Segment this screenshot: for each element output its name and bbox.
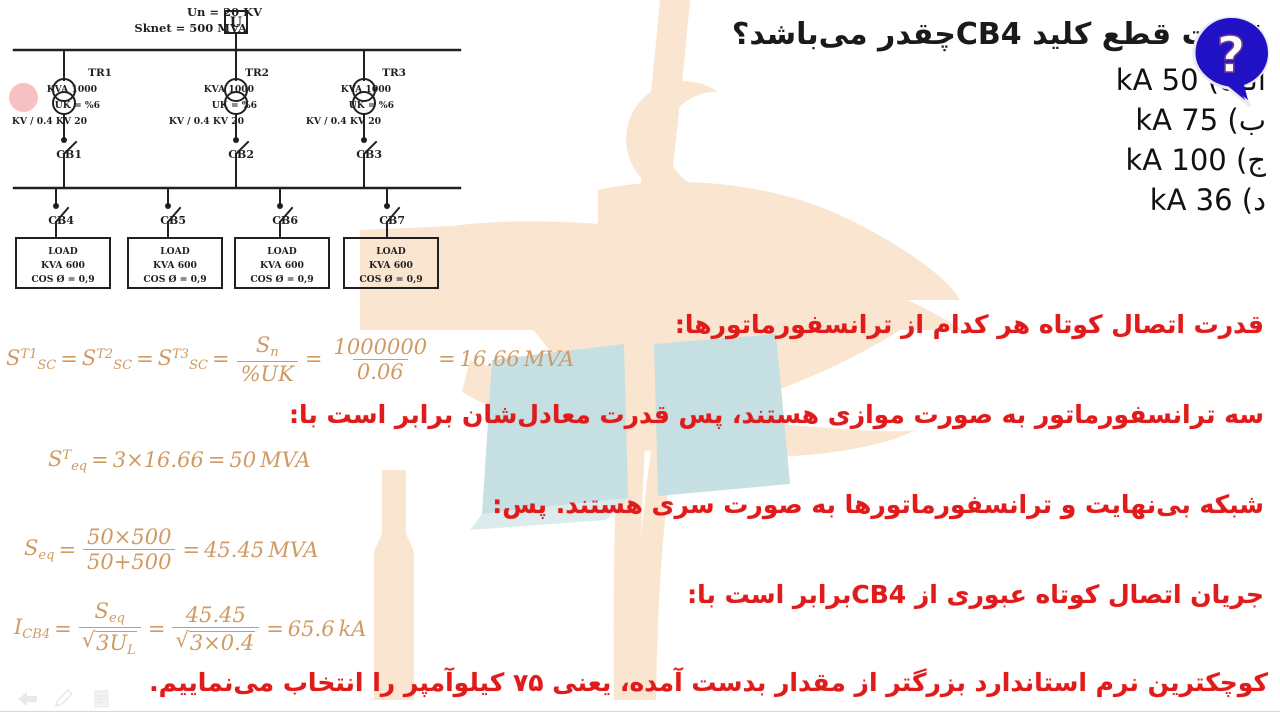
page-title: قدرت قطع کلید CB4چقدر می‌باشد؟ xyxy=(626,16,1266,54)
load2-pf: COS Ø = 0,9 xyxy=(143,274,206,285)
f4-fraction-numeric: 45.45 √3×0.4 xyxy=(172,604,259,654)
f4-num-S: S xyxy=(95,599,109,623)
f1-eq-d: = xyxy=(305,347,323,371)
formula-series-equivalent-power: Seq = 50×500 50+500 = 45.45MVA xyxy=(24,526,319,573)
f1-sup-T1: T1 xyxy=(20,347,37,362)
f4-fraction-symbolic: Seq √3UL xyxy=(79,600,141,657)
load1-rating: 600 KVA xyxy=(41,260,85,271)
cb1-label: CB1 xyxy=(56,148,82,161)
f4-result: 65.6 xyxy=(288,617,335,641)
f4-radical-1: √ xyxy=(82,629,95,651)
load2-rating: 600 KVA xyxy=(153,260,197,271)
f2-eq-b: = xyxy=(208,448,226,472)
f3-fraction: 50×500 50+500 xyxy=(83,526,175,573)
f1-fraction-numeric: 1000000 0.06 xyxy=(330,336,432,383)
explanation-line-4: جریان اتصال کوتاه عبوری از CB4برابر است … xyxy=(687,580,1264,609)
formula-equivalent-transformer-power: STeq = 3×16.66 = 50MVA xyxy=(48,447,311,474)
tr2-uk: UK = %6 xyxy=(212,100,257,111)
f4-sub-cb4: CB4 xyxy=(22,627,50,642)
f2-sup-T: T xyxy=(62,448,71,463)
f3-sub-eq: eq xyxy=(38,548,54,563)
tr2-rating: 1000 KVA xyxy=(204,84,254,95)
load3-title: LOAD xyxy=(267,246,297,257)
answer-option-alef[interactable]: الف) 50 kA xyxy=(626,60,1266,100)
question-mark-icon: ? xyxy=(1188,14,1274,110)
f1-sup-T3: T3 xyxy=(172,347,189,362)
f1-unit: MVA xyxy=(524,347,574,371)
f4-eq-a: = xyxy=(54,617,72,641)
bottom-divider xyxy=(0,711,1280,712)
f1-S2: S xyxy=(82,346,96,370)
cursor-highlight-dot xyxy=(9,83,38,112)
single-line-diagram: U Un = 20 KV Sknet = 500 MVA TR1 1000 KV… xyxy=(4,2,470,298)
f4-den-root: 3U xyxy=(96,631,127,655)
explanation-line-1: قدرت اتصال کوتاه هر کدام از ترانسفورماتو… xyxy=(675,310,1264,339)
f3-den: 50+500 xyxy=(83,549,175,573)
f1-fraction-sn-uk: Sn %UK xyxy=(237,334,298,385)
load1-pf: COS Ø = 0,9 xyxy=(31,274,94,285)
load3-pf: COS Ø = 0,9 xyxy=(250,274,313,285)
question-mark-glyph: ? xyxy=(1216,26,1245,84)
explanation-line-3: شبکه بی‌نهایت و ترانسفورماتورها به صورت … xyxy=(492,490,1264,519)
question-block: قدرت قطع کلید CB4چقدر می‌باشد؟ الف) 50 k… xyxy=(626,16,1266,220)
f1-sub-SC2: SC xyxy=(113,358,132,373)
cb6-label: CB6 xyxy=(272,214,298,227)
f1-num-1000000: 1000000 xyxy=(330,336,432,359)
f1-eq-b: = xyxy=(136,347,154,371)
f3-result: 45.45 xyxy=(204,538,264,562)
junction-dots xyxy=(53,137,390,209)
tr2-ratio: 20 KV / 0.4 KV xyxy=(169,116,244,127)
load2-title: LOAD xyxy=(160,246,190,257)
tr1-uk: UK = %6 xyxy=(55,100,100,111)
f1-S1: S xyxy=(6,346,20,370)
f1-num-S: S xyxy=(256,333,270,357)
tr1-ratio: 20 KV / 0.4 KV xyxy=(12,116,87,127)
f4-eq-c: = xyxy=(266,617,284,641)
formula-transformer-sc-power: ST1SC = ST2SC = ST3SC = Sn %UK = 1000000… xyxy=(6,334,574,385)
tr3-rating: 1000 KVA xyxy=(341,84,391,95)
explanation-line-2: سه ترانسفورماتور به صورت موازی هستند، پس… xyxy=(289,400,1264,429)
cb2-label: CB2 xyxy=(228,148,254,161)
load3-rating: 600 KVA xyxy=(260,260,304,271)
f1-den-uk: %UK xyxy=(237,361,298,385)
cb7-label: CB7 xyxy=(379,214,405,227)
cb5-label: CB5 xyxy=(160,214,186,227)
pencil-icon[interactable] xyxy=(52,688,76,710)
formula-cb4-short-circuit-current: ICB4 = Seq √3UL = 45.45 √3×0.4 = 65.6kA xyxy=(14,600,366,657)
f4-num-sub: eq xyxy=(109,611,125,626)
source-sknet: Sknet = 500 MVA xyxy=(134,21,248,35)
slide-canvas: U Un = 20 KV Sknet = 500 MVA TR1 1000 KV… xyxy=(0,0,1280,720)
f3-eq-b: = xyxy=(182,538,200,562)
f1-eq-c: = xyxy=(212,347,230,371)
f4-den-num: 3×0.4 xyxy=(189,631,255,654)
f3-eq-a: = xyxy=(58,538,76,562)
f2-S: S xyxy=(48,447,62,471)
f4-unit: kA xyxy=(339,617,367,641)
load4-rating: 600 KVA xyxy=(369,260,413,271)
cb4-label: CB4 xyxy=(48,214,74,227)
f2-sub-eq: eq xyxy=(71,459,87,474)
document-icon[interactable] xyxy=(90,688,112,710)
f1-num-sub: n xyxy=(270,345,278,360)
f4-eq-b: = xyxy=(148,617,166,641)
f2-expr: 3×16.66 xyxy=(113,448,204,472)
load4-pf: COS Ø = 0,9 xyxy=(359,274,422,285)
cb3-label: CB3 xyxy=(356,148,382,161)
f3-S: S xyxy=(24,536,38,560)
f1-S3: S xyxy=(158,346,172,370)
answer-option-dal[interactable]: د) 36 kA xyxy=(626,180,1266,220)
tr3-name: TR3 xyxy=(382,67,406,79)
f1-sub-SC1: SC xyxy=(37,358,56,373)
tr1-name: TR1 xyxy=(88,67,112,79)
answer-option-jim[interactable]: ج) 100 kA xyxy=(626,140,1266,180)
f3-num: 50×500 xyxy=(83,526,175,549)
source-un: Un = 20 KV xyxy=(187,5,263,19)
f1-den-006: 0.06 xyxy=(353,359,408,383)
answer-option-be[interactable]: ب) 75 kA xyxy=(626,100,1266,140)
f4-radical-2: √ xyxy=(175,629,188,651)
tr3-ratio: 20 KV / 0.4 KV xyxy=(306,116,381,127)
load4-title: LOAD xyxy=(376,246,406,257)
f4-den-sub: L xyxy=(127,642,136,657)
tr3-uk: UK = %6 xyxy=(349,100,394,111)
f2-eq-a: = xyxy=(91,448,109,472)
f3-unit: MVA xyxy=(268,538,318,562)
f2-result: 50 xyxy=(229,448,256,472)
f1-sup-T2: T2 xyxy=(96,347,113,362)
f1-eq-a: = xyxy=(60,347,78,371)
f1-result: 16.66 xyxy=(460,347,520,371)
back-arrow-icon[interactable] xyxy=(14,688,40,710)
tr2-name: TR2 xyxy=(245,67,269,79)
tr1-rating: 1000 KVA xyxy=(47,84,97,95)
f2-unit: MVA xyxy=(260,448,310,472)
f1-sub-SC3: SC xyxy=(189,358,208,373)
ghost-toolbar xyxy=(0,688,1280,720)
load1-title: LOAD xyxy=(48,246,78,257)
f4-num-4545: 45.45 xyxy=(182,604,250,627)
f1-eq-e: = xyxy=(438,347,456,371)
answer-options-list: الف) 50 kA ب) 75 kA ج) 100 kA د) 36 kA xyxy=(626,60,1266,220)
